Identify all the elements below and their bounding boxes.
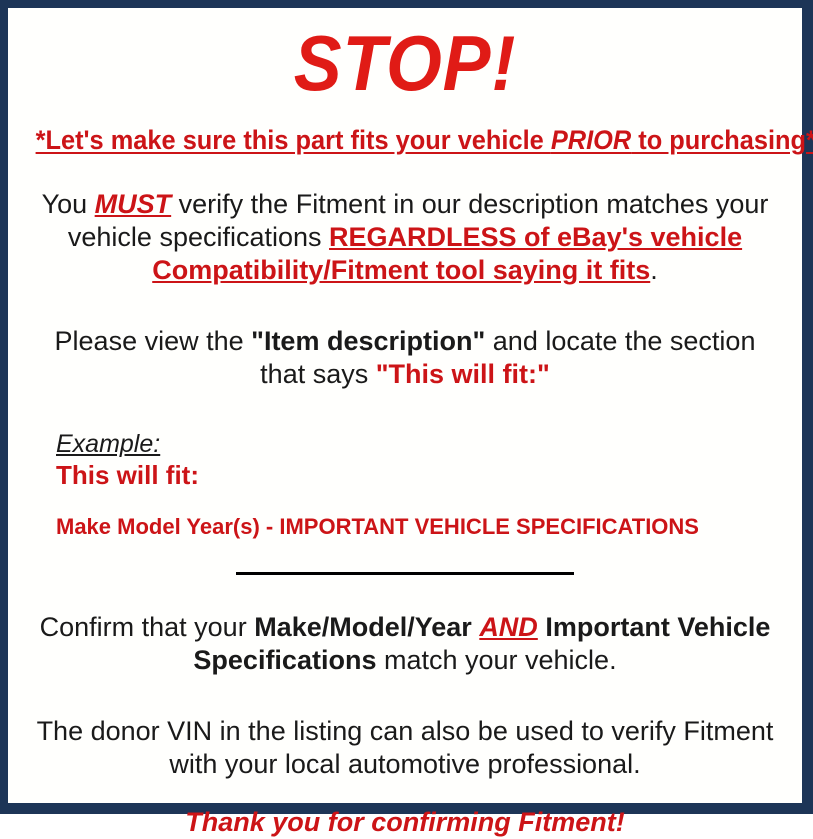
stop-headline: STOP! (43, 8, 766, 106)
section-divider (236, 572, 574, 575)
divider-wrapper (12, 541, 798, 583)
confirm-paragraph: Confirm that your Make/Model/Year AND Im… (12, 583, 798, 677)
verify-fitment-paragraph: You MUST verify the Fitment in our descr… (12, 156, 798, 287)
view-description-paragraph: Please view the "Item description" and l… (12, 287, 798, 391)
example-spec-line: Make Model Year(s) - IMPORTANT VEHICLE S… (56, 491, 798, 541)
thank-you-line: Thank you for confirming Fitment! (12, 781, 798, 839)
banner-inner-content: STOP! *Let's make sure this part fits yo… (8, 8, 802, 803)
confirm-emphasis-and: AND (479, 612, 538, 642)
subtitle-before: *Let's make sure this part fits your veh… (36, 125, 551, 155)
subtitle-emphasis-prior: PRIOR (551, 125, 631, 155)
example-fit-heading: This will fit: (56, 459, 798, 491)
verify-emphasis-must: MUST (95, 189, 172, 219)
confirm-emphasis-make-model-year: Make/Model/Year (254, 612, 472, 642)
verify-text-part3: . (650, 255, 658, 285)
view-emphasis-this-will-fit: "This will fit:" (376, 359, 550, 389)
subtitle-line: *Let's make sure this part fits your veh… (36, 106, 775, 156)
donor-vin-paragraph: The donor VIN in the listing can also be… (12, 677, 798, 781)
verify-text-part1: You (42, 189, 95, 219)
example-label-row: Example: (56, 429, 798, 459)
example-block: Example: This will fit: Make Model Year(… (12, 391, 798, 541)
confirm-text-part2: match your vehicle. (376, 645, 616, 675)
view-emphasis-item-description: "Item description" (251, 326, 485, 356)
confirm-text-part1: Confirm that your (40, 612, 255, 642)
fitment-warning-banner: STOP! *Let's make sure this part fits yo… (0, 0, 813, 814)
view-text-part1: Please view the (55, 326, 252, 356)
example-label: Example: (56, 429, 160, 459)
subtitle-after: to purchasing* (631, 125, 813, 155)
